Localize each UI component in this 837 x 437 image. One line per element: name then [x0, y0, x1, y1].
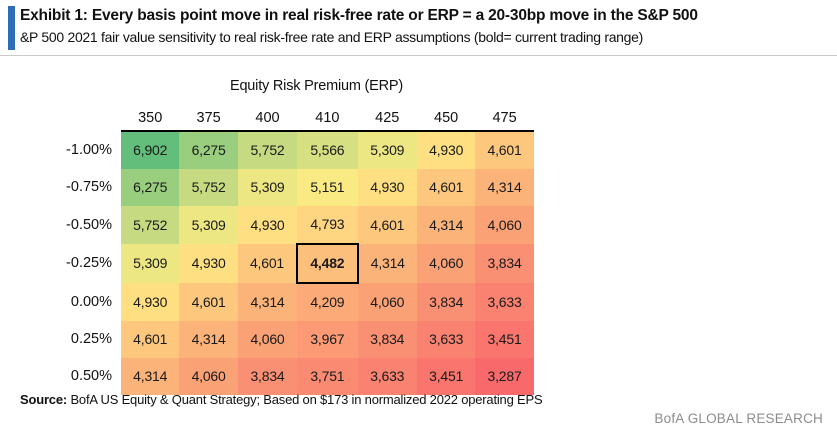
column-header: 425 — [358, 100, 417, 131]
heatmap-table: 350375400410425450475 -1.00%6,9026,2755,… — [0, 100, 534, 395]
heatmap-cell: 4,601 — [179, 283, 237, 321]
column-header: 350 — [121, 100, 179, 131]
heatmap-cell: 4,601 — [475, 131, 533, 169]
heatmap-cell: 4,314 — [121, 358, 179, 395]
column-header: 400 — [238, 100, 297, 131]
exhibit-header: Exhibit 1: Every basis point move in rea… — [0, 0, 837, 51]
heatmap-cell-highlighted: 4,482 — [297, 244, 357, 283]
heatmap-cell: 4,209 — [297, 283, 357, 321]
heatmap-cell: 5,752 — [238, 131, 297, 169]
heatmap-cell: 4,930 — [238, 206, 297, 244]
heatmap-cell: 4,601 — [121, 321, 179, 358]
source-note: Source: BofA US Equity & Quant Strategy;… — [20, 392, 542, 407]
table-row: 0.25%4,6014,3144,0603,9673,8343,6333,451 — [0, 321, 534, 358]
heatmap-cell: 6,275 — [179, 131, 237, 169]
heatmap-cell: 5,752 — [121, 206, 179, 244]
heatmap-cell: 3,834 — [417, 283, 475, 321]
table-row: -0.75%6,2755,7525,3095,1514,9304,6014,31… — [0, 169, 534, 206]
page-title: Exhibit 1: Every basis point move in rea… — [20, 6, 827, 27]
heatmap-cell: 4,314 — [238, 283, 297, 321]
row-header: -0.75% — [0, 169, 121, 206]
heatmap-cell: 3,633 — [358, 358, 417, 395]
table-corner — [0, 100, 121, 131]
heatmap-cell: 3,967 — [297, 321, 357, 358]
heatmap-chart: Equity Risk Premium (ERP) Normalized Rea… — [0, 56, 837, 386]
heatmap-cell: 5,752 — [179, 169, 237, 206]
heatmap-cell: 4,601 — [417, 169, 475, 206]
page-subtitle: &P 500 2021 fair value sensitivity to re… — [20, 28, 827, 47]
heatmap-cell: 4,601 — [238, 244, 297, 283]
row-header: 0.00% — [0, 283, 121, 321]
heatmap-cell: 3,451 — [475, 321, 533, 358]
heatmap-cell: 4,314 — [358, 244, 417, 283]
heatmap-cell: 4,060 — [358, 283, 417, 321]
row-header: 0.25% — [0, 321, 121, 358]
table-row: -0.50%5,7525,3094,9304,7934,6014,3144,06… — [0, 206, 534, 244]
row-header: -0.25% — [0, 244, 121, 283]
heatmap-cell: 3,633 — [475, 283, 533, 321]
column-header-row: 350375400410425450475 — [0, 100, 534, 131]
heatmap-cell: 3,834 — [475, 244, 533, 283]
heatmap-cell: 3,451 — [417, 358, 475, 395]
table-row: -1.00%6,9026,2755,7525,5665,3094,9304,60… — [0, 131, 534, 169]
heatmap-cell: 5,566 — [297, 131, 357, 169]
source-label: Source: — [20, 392, 67, 407]
heatmap-cell: 3,834 — [358, 321, 417, 358]
heatmap-cell: 3,633 — [417, 321, 475, 358]
row-header: -0.50% — [0, 206, 121, 244]
heatmap-cell: 4,314 — [417, 206, 475, 244]
heatmap-cell: 6,275 — [121, 169, 179, 206]
brand-attribution: BofA GLOBAL RESEARCH — [654, 411, 823, 426]
x-axis-title: Equity Risk Premium (ERP) — [112, 78, 521, 94]
heatmap-cell: 6,902 — [121, 131, 179, 169]
heatmap-cell: 4,314 — [475, 169, 533, 206]
heatmap-cell: 4,793 — [297, 206, 357, 244]
heatmap-cell: 4,060 — [238, 321, 297, 358]
column-header: 410 — [297, 100, 357, 131]
source-text: BofA US Equity & Quant Strategy; Based o… — [70, 392, 542, 407]
heatmap-cell: 3,751 — [297, 358, 357, 395]
heatmap-cell: 5,309 — [238, 169, 297, 206]
row-header: -1.00% — [0, 131, 121, 169]
heatmap-cell: 4,060 — [475, 206, 533, 244]
heatmap-cell: 4,601 — [358, 206, 417, 244]
table-row: -0.25%5,3094,9304,6014,4824,3144,0603,83… — [0, 244, 534, 283]
column-header: 475 — [475, 100, 533, 131]
heatmap-cell: 5,309 — [179, 206, 237, 244]
heatmap-cell: 4,930 — [121, 283, 179, 321]
table-row: 0.50%4,3144,0603,8343,7513,6333,4513,287 — [0, 358, 534, 395]
column-header: 375 — [179, 100, 237, 131]
heatmap-cell: 5,309 — [358, 131, 417, 169]
heatmap-cell: 5,309 — [121, 244, 179, 283]
heatmap-cell: 4,060 — [417, 244, 475, 283]
header-accent-bar — [8, 6, 15, 50]
heatmap-body: -1.00%6,9026,2755,7525,5665,3094,9304,60… — [0, 131, 534, 395]
heatmap-cell: 4,060 — [179, 358, 237, 395]
heatmap-cell: 5,151 — [297, 169, 357, 206]
heatmap-cell: 3,834 — [238, 358, 297, 395]
table-row: 0.00%4,9304,6014,3144,2094,0603,8343,633 — [0, 283, 534, 321]
heatmap-cell: 4,930 — [358, 169, 417, 206]
column-header: 450 — [417, 100, 475, 131]
row-header: 0.50% — [0, 358, 121, 395]
heatmap-cell: 4,314 — [179, 321, 237, 358]
heatmap-cell: 4,930 — [179, 244, 237, 283]
heatmap-cell: 4,930 — [417, 131, 475, 169]
heatmap-cell: 3,287 — [475, 358, 533, 395]
